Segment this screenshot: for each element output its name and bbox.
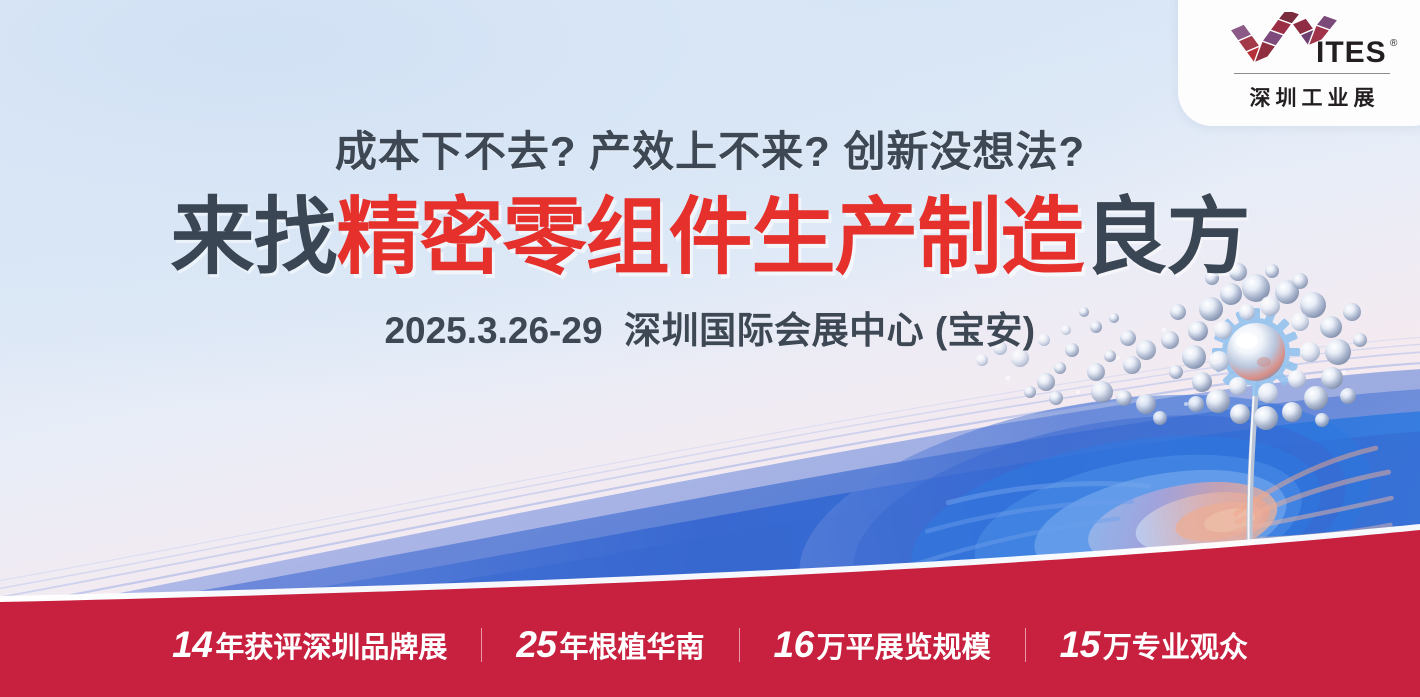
stat-number: 16 bbox=[774, 624, 814, 666]
stat-item: 15 万专业观众 bbox=[1026, 624, 1282, 666]
stat-item: 16 万平展览规模 bbox=[740, 624, 1025, 666]
stat-label: 万专业观众 bbox=[1103, 624, 1248, 666]
page-title: 来找精密零组件生产制造良方 bbox=[0, 193, 1420, 282]
event-venue: 深圳国际会展中心 (宝安) bbox=[624, 310, 1035, 351]
stat-item: 14 年获评深圳品牌展 bbox=[138, 624, 481, 666]
ites-chevron-logo: ITES ® bbox=[1224, 12, 1400, 68]
stat-label: 万平展览规模 bbox=[817, 624, 991, 666]
title-part-1: 来找 bbox=[170, 190, 336, 284]
stat-number: 25 bbox=[516, 624, 556, 666]
svg-text:®: ® bbox=[1390, 38, 1398, 49]
stat-label: 年获评深圳品牌展 bbox=[215, 624, 447, 666]
stat-item: 25 年根植华南 bbox=[482, 624, 738, 666]
logo-chinese-name: 深圳工业展 bbox=[1245, 82, 1380, 112]
stat-label: 年根植华南 bbox=[559, 624, 704, 666]
svg-text:ITES: ITES bbox=[1316, 36, 1387, 68]
kicker-line: 成本下不去? 产效上不来? 创新没想法? bbox=[0, 118, 1420, 179]
title-part-3: 良方 bbox=[1084, 190, 1250, 284]
brand-logo-card[interactable]: ITES ® 深圳工业展 bbox=[1178, 0, 1420, 126]
stats-row: 14 年获评深圳品牌展 25 年根植华南 16 万平展览规模 15 万专业观众 bbox=[0, 593, 1420, 697]
title-part-2: 精密零组件生产制造 bbox=[336, 190, 1083, 284]
stat-number: 15 bbox=[1060, 624, 1100, 666]
logo-divider bbox=[1234, 73, 1390, 74]
event-date: 2025.3.26-29 bbox=[384, 310, 602, 351]
date-venue-line: 2025.3.26-29 深圳国际会展中心 (宝安) bbox=[0, 300, 1420, 354]
stats-banner: 14 年获评深圳品牌展 25 年根植华南 16 万平展览规模 15 万专业观众 bbox=[0, 522, 1420, 697]
poster-root: 成本下不去? 产效上不来? 创新没想法? 来找精密零组件生产制造良方 2025.… bbox=[0, 0, 1420, 697]
stat-number: 14 bbox=[172, 624, 212, 666]
